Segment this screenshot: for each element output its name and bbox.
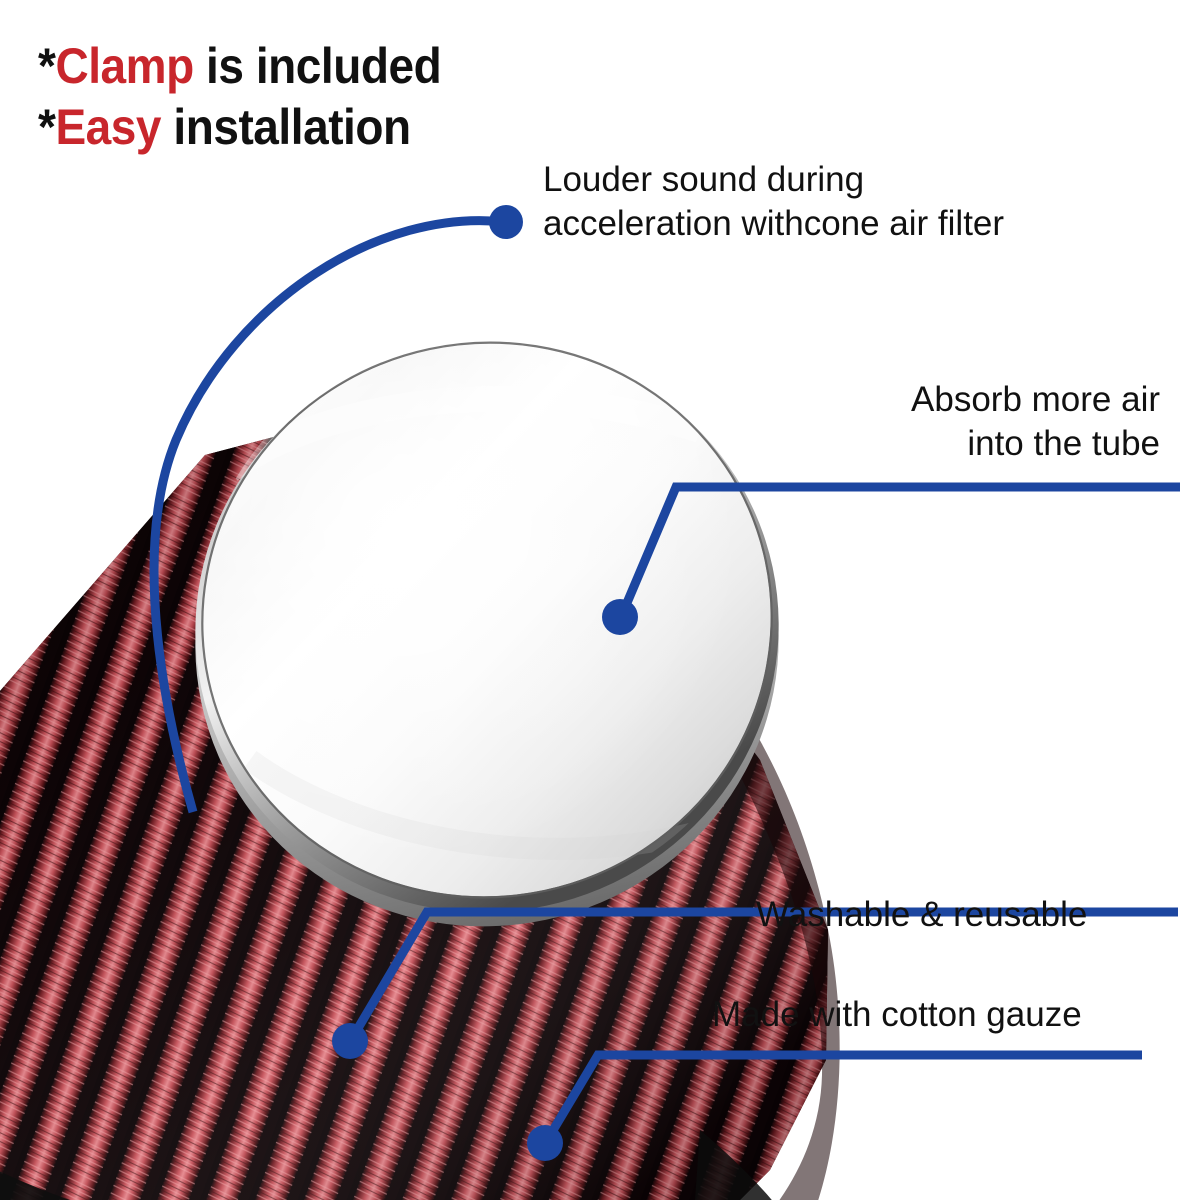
callout-label-washable-reusable: Washable & reusable xyxy=(756,893,1087,937)
headline-rest-1: is included xyxy=(194,38,442,94)
headline-accent-easy: Easy xyxy=(55,99,161,155)
headline-line-1: *Clamp is included xyxy=(38,36,553,97)
leader-dot-absorb xyxy=(602,599,638,635)
product-infographic-page: *Clamp is included *Easy installation Lo… xyxy=(0,0,1200,1200)
headline-rest-2: installation xyxy=(161,99,411,155)
headline-accent-clamp: Clamp xyxy=(55,38,193,94)
leader-line-gauze xyxy=(546,1055,1142,1142)
callout-label-louder-sound: Louder sound during acceleration withcon… xyxy=(543,158,1004,246)
callout-label-cotton-gauze: Made with cotton gauze xyxy=(712,993,1082,1037)
leader-line-louder xyxy=(154,221,505,812)
leader-dot-washable xyxy=(332,1023,368,1059)
headline-line-2: *Easy installation xyxy=(38,97,553,158)
headline-bullet-star-2: * xyxy=(38,99,55,155)
leader-line-absorb xyxy=(621,487,1180,617)
leader-dot-louder xyxy=(489,205,523,239)
leader-dot-gauze xyxy=(527,1125,563,1161)
headline-block: *Clamp is included *Easy installation xyxy=(38,36,598,158)
callout-label-absorb-more-air: Absorb more air into the tube xyxy=(700,378,1160,466)
headline-bullet-star-1: * xyxy=(38,38,55,94)
